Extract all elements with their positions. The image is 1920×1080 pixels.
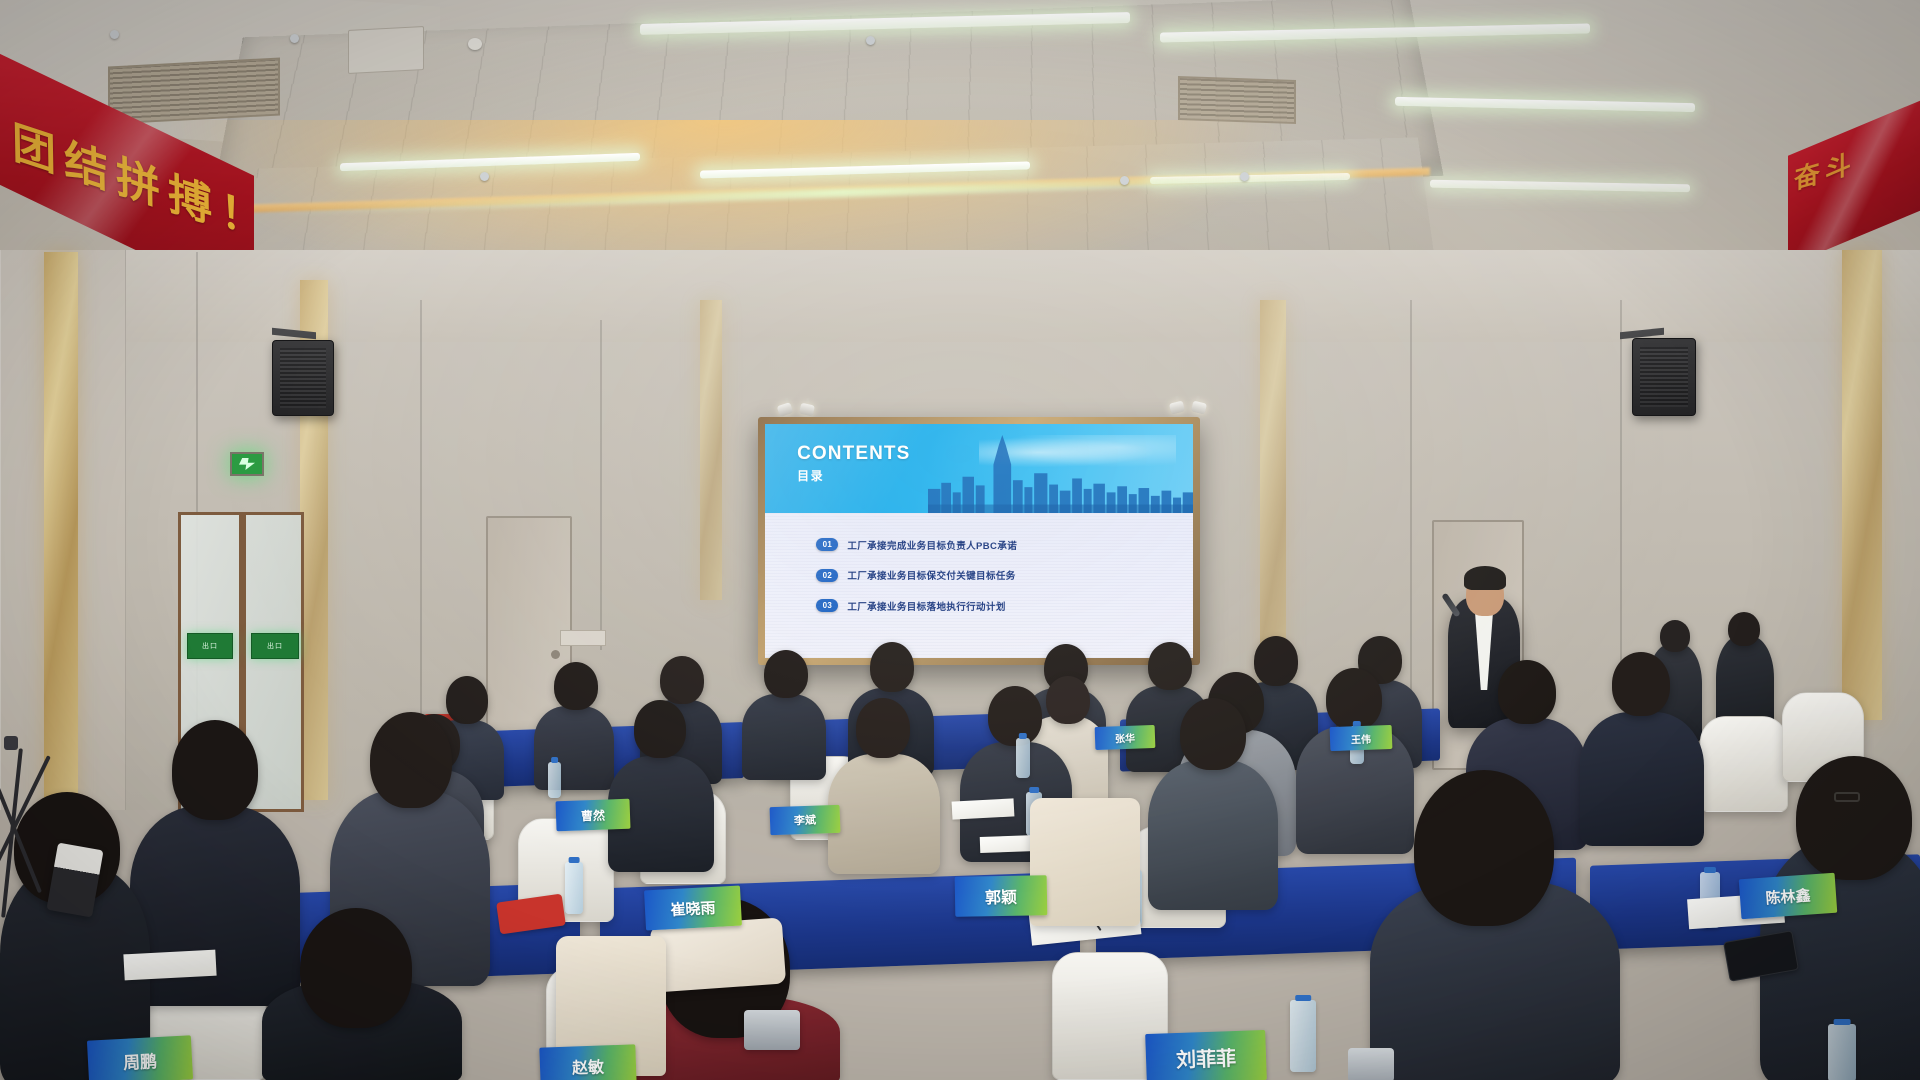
water-bottle-5[interactable]: [1016, 738, 1030, 778]
glass-cup[interactable]: [744, 1010, 800, 1050]
attendee-f2-head: [370, 712, 452, 808]
ceiling-diffuser: [348, 26, 424, 74]
attendee-b7-head: [1148, 642, 1192, 690]
gold-pillar-3: [700, 300, 722, 600]
name-placard-3: 曹然: [555, 799, 630, 832]
slide-surface: CONTENTS 目录 01 工厂承接完成业务目标负责人PBC承诺 02 工厂承…: [765, 424, 1193, 658]
placard-4-name: 刘菲菲: [1176, 1041, 1237, 1072]
slide-toc-text-2: 工厂承接业务目标保交付关键目标任务: [847, 568, 1015, 582]
placard-4-brand: [1150, 1037, 1151, 1042]
bottle-cap-9: [1029, 787, 1039, 793]
gold-pillar-5: [1842, 250, 1882, 720]
attendee-f8-head: [1180, 698, 1246, 770]
placard-2-name: 郭颖: [985, 884, 1017, 909]
water-bottle-7[interactable]: [548, 762, 561, 798]
attendee-b4-body: [742, 694, 826, 780]
attendee-b10-head: [1046, 676, 1090, 724]
tripod-head: [4, 736, 18, 750]
wall-seam-2: [420, 300, 422, 780]
attendee-f8-body: [1148, 760, 1278, 910]
slide-toc-item-2: 02 工厂承接业务目标保交付关键目标任务: [816, 568, 1015, 582]
placard-3-name: 曹然: [581, 806, 606, 824]
door-knob-center[interactable]: [551, 650, 560, 659]
placard-8-name: 张华: [1115, 730, 1136, 746]
name-placard-4: 刘菲菲: [1145, 1030, 1267, 1080]
attendee-f3-head: [300, 908, 412, 1028]
attendee-b2-head: [554, 662, 598, 710]
slide-toc-text-1: 工厂承接完成业务目标负责人PBC承诺: [847, 538, 1017, 552]
ac-vent-grille-right: [1178, 76, 1296, 124]
attendee-b4-head: [764, 650, 808, 698]
wall-speaker-left: [272, 340, 334, 416]
sprinkler-head-5: [480, 172, 489, 181]
slide-toc-number-2: 02: [816, 569, 838, 582]
smoke-detector-1: [290, 34, 299, 43]
attendee-b1-head: [446, 676, 488, 724]
slide-toc-number-3: 03: [816, 599, 838, 612]
bottle-cap-3: [1295, 995, 1311, 1001]
attendee-m7-head: [1498, 660, 1556, 724]
placard-9-name: 周鹏: [122, 1047, 157, 1074]
name-placard-5: 陈林鑫: [1739, 873, 1838, 920]
name-placard-6: 李斌: [770, 805, 841, 835]
ac-vent-grille: [108, 57, 280, 124]
water-bottle-3[interactable]: [1290, 1000, 1316, 1072]
attendee-m8-head: [1612, 652, 1670, 716]
wall-plate: [560, 630, 606, 646]
slide-title-en: CONTENTS: [797, 444, 910, 463]
placard-7-name: 王伟: [1351, 730, 1372, 746]
attendee-f1-head: [172, 720, 258, 820]
standing-person-2-head: [1728, 612, 1760, 646]
bottle-cap-8: [1834, 1019, 1851, 1025]
wall-seam-4: [1410, 300, 1412, 720]
sprinkler-head-2: [866, 36, 875, 45]
placard-1-brand: [649, 893, 650, 898]
sprinkler-head-1: [110, 30, 119, 39]
attendee-f6-head: [1796, 756, 1912, 880]
conference-room-photo: 团结拼搏！ 奋斗 出口 出口: [0, 0, 1920, 1080]
door-exit-label-right: 出口: [251, 633, 299, 659]
placard-10-name: 赵敏: [572, 1053, 605, 1078]
slide-title-group: CONTENTS 目录: [797, 444, 910, 484]
slide-toc-item-3: 03 工厂承接业务目标落地执行行动计划: [816, 599, 1005, 613]
water-bottle-1[interactable]: [565, 862, 583, 914]
wall-upper-band: [0, 250, 1920, 342]
emergency-exit-sign: [230, 452, 264, 476]
attendee-m3-head: [856, 698, 910, 758]
placard-6-name: 李斌: [794, 812, 817, 829]
eyeglasses: [1834, 792, 1860, 802]
glass-cup-2[interactable]: [1348, 1048, 1394, 1080]
wall-seam-5: [1620, 300, 1622, 700]
attendee-b5-head: [870, 642, 914, 692]
gold-pillar-1: [44, 252, 78, 808]
slide-title-cn: 目录: [797, 467, 910, 484]
standing-person-1-head: [1660, 620, 1690, 652]
attendee-b2-body: [534, 706, 614, 790]
attendee-b3-head: [660, 656, 704, 704]
name-placard-8: 张华: [1095, 725, 1156, 750]
bottle-cap-5: [1019, 733, 1027, 739]
slide-toc-number-1: 01: [816, 538, 838, 551]
slide-toc-text-3: 工厂承接业务目标落地执行行动计划: [847, 599, 1005, 613]
name-placard-2: 郭颖: [955, 875, 1048, 917]
slide-header-band: CONTENTS 目录: [765, 424, 1193, 513]
attendee-m8-body: [1580, 712, 1704, 846]
bottle-cap-1: [569, 857, 580, 863]
sprinkler-head-4: [1240, 172, 1249, 181]
door-exit-label-left: 出口: [187, 633, 233, 659]
placard-2-brand: [960, 880, 961, 885]
name-placard-1: 崔晓雨: [644, 886, 742, 931]
name-placard-9: 周鹏: [87, 1035, 193, 1080]
slide-body: 01 工厂承接完成业务目标负责人PBC承诺 02 工厂承接业务目标保交付关键目标…: [765, 513, 1193, 658]
smoke-detector-2: [468, 38, 482, 50]
city-skyline-icon: [928, 435, 1193, 513]
document-sheet-3[interactable]: [123, 950, 216, 981]
bottle-cap-7: [551, 757, 559, 763]
sprinkler-head-3: [1120, 176, 1129, 185]
name-placard-10: 赵敏: [539, 1044, 636, 1080]
slide-toc-item-1: 01 工厂承接完成业务目标负责人PBC承诺: [816, 538, 1017, 552]
attendee-f5-head: [1414, 770, 1554, 926]
bottle-cap-4: [1704, 867, 1716, 873]
document-sheet-4[interactable]: [952, 798, 1015, 819]
wall-speaker-right: [1632, 338, 1696, 416]
water-bottle-8[interactable]: [1828, 1024, 1856, 1080]
chair-8: [1700, 716, 1788, 812]
placard-1-name: 崔晓雨: [670, 896, 716, 919]
name-placard-7: 王伟: [1330, 725, 1393, 751]
wall-seam-3: [600, 320, 602, 650]
placard-5-name: 陈林鑫: [1765, 884, 1811, 908]
projection-screen: CONTENTS 目录 01 工厂承接完成业务目标负责人PBC承诺 02 工厂承…: [758, 417, 1200, 665]
presenter-hair: [1464, 566, 1506, 590]
attendee-m2-head: [634, 700, 686, 758]
attendee-m3-body: [828, 754, 940, 874]
attendee-b8-head: [1254, 636, 1298, 686]
attendee-m4-head: [988, 686, 1042, 746]
document-sheet-5[interactable]: [980, 835, 1037, 853]
